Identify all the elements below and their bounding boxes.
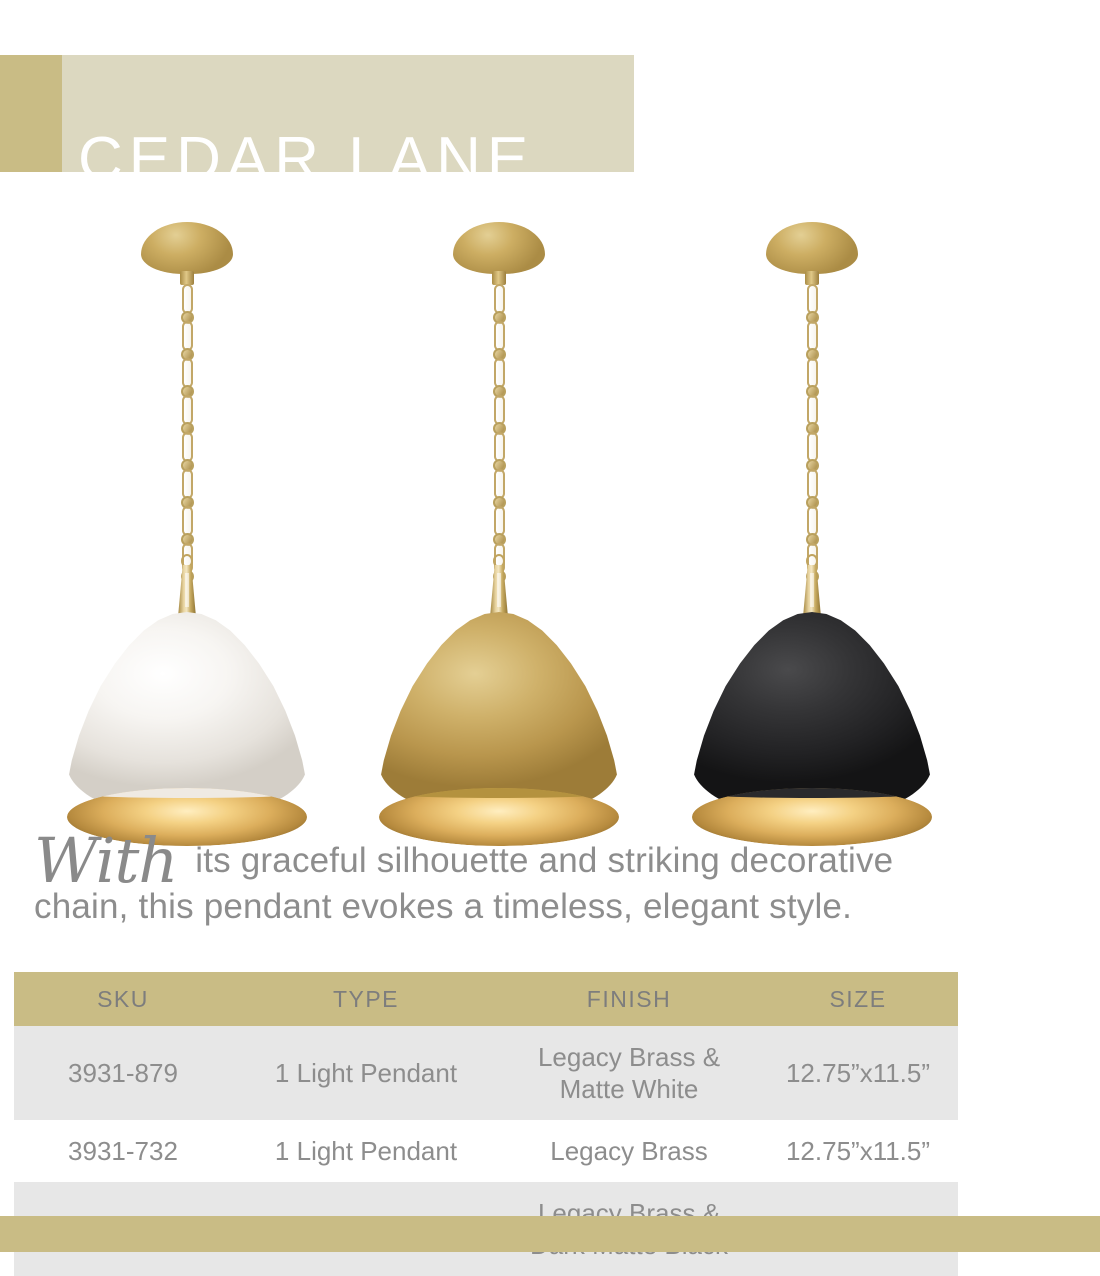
product-image-dark-matte-black-pendant[interactable] — [647, 180, 977, 820]
cell-sku: 3931-879 — [14, 1026, 232, 1120]
header-banner: CEDAR LANE — [0, 55, 634, 172]
column-header-type: TYPE — [232, 972, 500, 1026]
cell-size: 12.75”x11.5” — [758, 1026, 958, 1120]
brass-fitter — [174, 554, 200, 618]
product-image-stage — [0, 180, 1100, 820]
ceiling-canopy-icon — [453, 222, 545, 274]
table-row[interactable]: 3931-732 1 Light Pendant Legacy Brass 12… — [14, 1120, 958, 1182]
product-image-legacy-brass-pendant[interactable] — [334, 180, 664, 820]
socket-stem — [803, 565, 821, 617]
ceiling-canopy-icon — [766, 222, 858, 274]
footer-accent-bar — [0, 1216, 1100, 1252]
column-header-finish: FINISH — [500, 972, 758, 1026]
brass-fitter — [799, 554, 825, 618]
brass-fitter — [486, 554, 512, 618]
cell-finish: Legacy Brass & Matte White — [500, 1026, 758, 1120]
table-header-row: SKU TYPE FINISH SIZE — [14, 972, 958, 1026]
banner-left-accent-strip — [0, 55, 62, 172]
cell-finish-line1: Legacy Brass & — [538, 1042, 720, 1072]
product-description: With its graceful silhouette and strikin… — [34, 838, 1024, 930]
description-line-1: With its graceful silhouette and strikin… — [34, 838, 1024, 884]
ceiling-canopy-icon — [141, 222, 233, 274]
cell-finish: Legacy Brass — [500, 1120, 758, 1182]
cell-size: 12.75”x11.5” — [758, 1120, 958, 1182]
socket-stem — [178, 565, 196, 617]
cell-finish-line2: Matte White — [560, 1074, 699, 1104]
socket-stem — [490, 565, 508, 617]
column-header-sku: SKU — [14, 972, 232, 1026]
description-line-1-text: its graceful silhouette and striking dec… — [185, 841, 893, 880]
product-image-matte-white-pendant[interactable] — [22, 180, 352, 820]
description-dropcap: With — [34, 824, 185, 897]
cell-type: 1 Light Pendant — [232, 1120, 500, 1182]
column-header-size: SIZE — [758, 972, 958, 1026]
cell-sku: 3931-732 — [14, 1120, 232, 1182]
cell-type: 1 Light Pendant — [232, 1026, 500, 1120]
table-row[interactable]: 3931-879 1 Light Pendant Legacy Brass & … — [14, 1026, 958, 1120]
